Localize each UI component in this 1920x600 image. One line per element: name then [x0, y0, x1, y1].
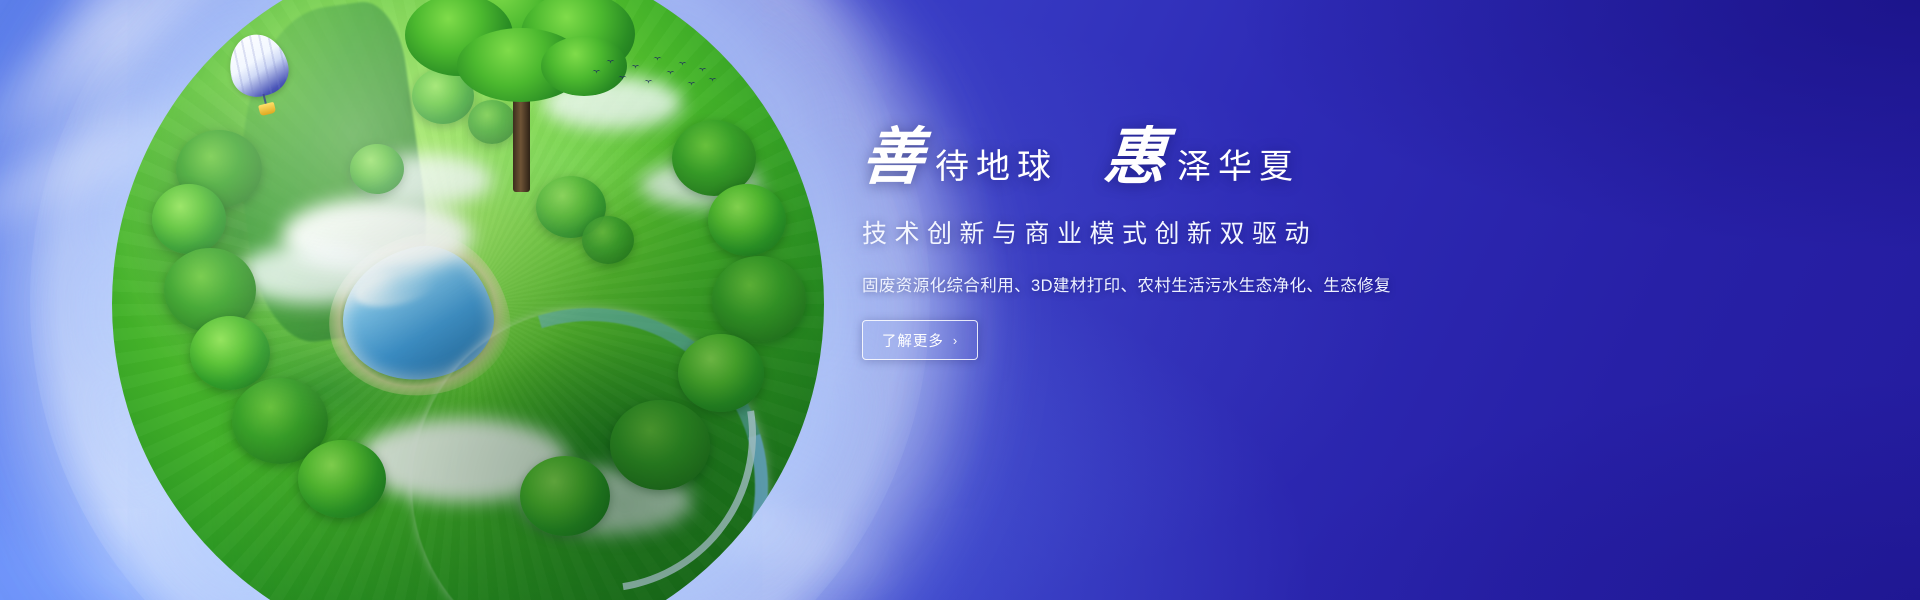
learn-more-label: 了解更多 [882, 330, 944, 351]
river [349, 245, 824, 600]
description: 固废资源化综合利用、3D建材打印、农村生活污水生态净化、生态修复 [862, 272, 1482, 296]
subtitle: 技术创新与商业模式创新双驱动 [862, 214, 1482, 250]
banner-content: 善 待地球 惠 泽华夏 技术创新与商业模式创新双驱动 固废资源化综合利用、3D建… [862, 126, 1482, 360]
bird-flock [590, 52, 720, 98]
headline-word-1: 待地球 [935, 150, 1058, 184]
chevron-right-icon: › [953, 333, 958, 348]
headline: 善 待地球 惠 泽华夏 [862, 126, 1482, 188]
lake [330, 234, 504, 394]
headline-word-2: 泽华夏 [1177, 150, 1300, 184]
headline-char-1: 善 [860, 126, 927, 188]
headline-char-2: 惠 [1102, 126, 1169, 188]
hero-banner: 善 待地球 惠 泽华夏 技术创新与商业模式创新双驱动 固废资源化综合利用、3D建… [0, 0, 1920, 600]
learn-more-button[interactable]: 了解更多 › [862, 320, 978, 360]
